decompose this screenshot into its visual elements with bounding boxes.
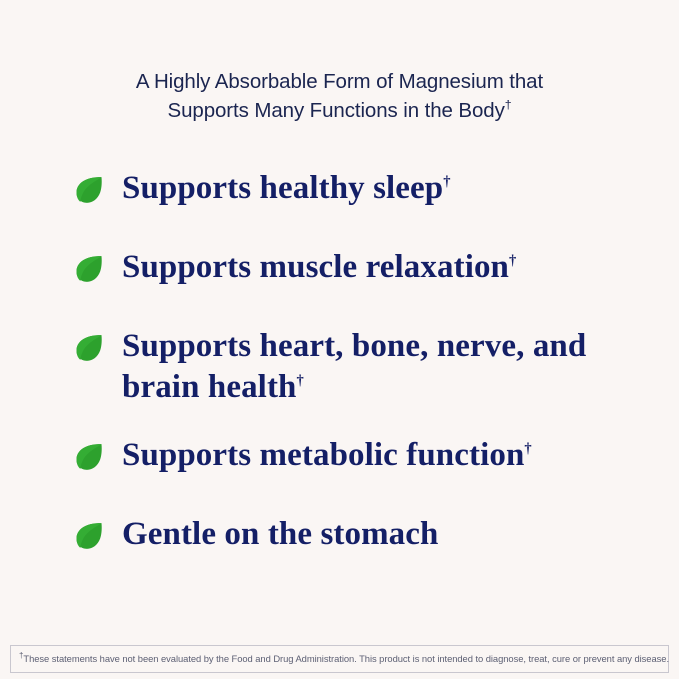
leaf-icon bbox=[74, 254, 104, 284]
list-item: Supports heart, bone, nerve, and brain h… bbox=[0, 326, 679, 408]
list-item-text: Supports metabolic function bbox=[122, 437, 524, 473]
leaf-icon bbox=[74, 442, 104, 472]
disclaimer-body: These statements have not been evaluated… bbox=[23, 653, 669, 664]
page-title: A Highly Absorbable Form of Magnesium th… bbox=[0, 67, 679, 125]
list-item: Supports muscle relaxation† bbox=[0, 247, 679, 299]
list-item-dagger: † bbox=[443, 174, 450, 190]
headline-line-1: A Highly Absorbable Form of Magnesium th… bbox=[60, 67, 619, 96]
list-item-text: Gentle on the stomach bbox=[122, 516, 439, 552]
headline-dagger: † bbox=[505, 98, 512, 112]
list-item-text: Supports muscle relaxation bbox=[122, 249, 509, 285]
list-item-dagger: † bbox=[509, 253, 516, 269]
leaf-icon bbox=[74, 333, 104, 363]
headline-line-2: Supports Many Functions in the Body bbox=[168, 99, 505, 122]
list-item-label: Supports muscle relaxation† bbox=[122, 247, 516, 288]
list-item: Gentle on the stomach bbox=[0, 514, 679, 566]
list-item-label: Supports heart, bone, nerve, and brain h… bbox=[122, 326, 627, 408]
list-item-text: Supports heart, bone, nerve, and brain h… bbox=[122, 328, 586, 405]
list-item-text: Supports healthy sleep bbox=[122, 170, 443, 206]
list-item-label: Supports metabolic function† bbox=[122, 435, 532, 476]
leaf-icon bbox=[74, 521, 104, 551]
list-item-dagger: † bbox=[524, 441, 531, 457]
list-item: Supports healthy sleep† bbox=[0, 168, 679, 220]
leaf-icon bbox=[74, 175, 104, 205]
list-item-label: Gentle on the stomach bbox=[122, 514, 439, 555]
disclaimer-box: †These statements have not been evaluate… bbox=[10, 645, 669, 673]
disclaimer-text: †These statements have not been evaluate… bbox=[19, 653, 669, 665]
product-benefits-panel: A Highly Absorbable Form of Magnesium th… bbox=[0, 0, 679, 679]
headline-line-2-wrap: Supports Many Functions in the Body† bbox=[60, 96, 619, 125]
list-item-label: Supports healthy sleep† bbox=[122, 168, 451, 209]
list-item: Supports metabolic function† bbox=[0, 435, 679, 487]
list-item-dagger: † bbox=[296, 373, 303, 389]
benefits-list: Supports healthy sleep† Supports muscle … bbox=[0, 168, 679, 566]
